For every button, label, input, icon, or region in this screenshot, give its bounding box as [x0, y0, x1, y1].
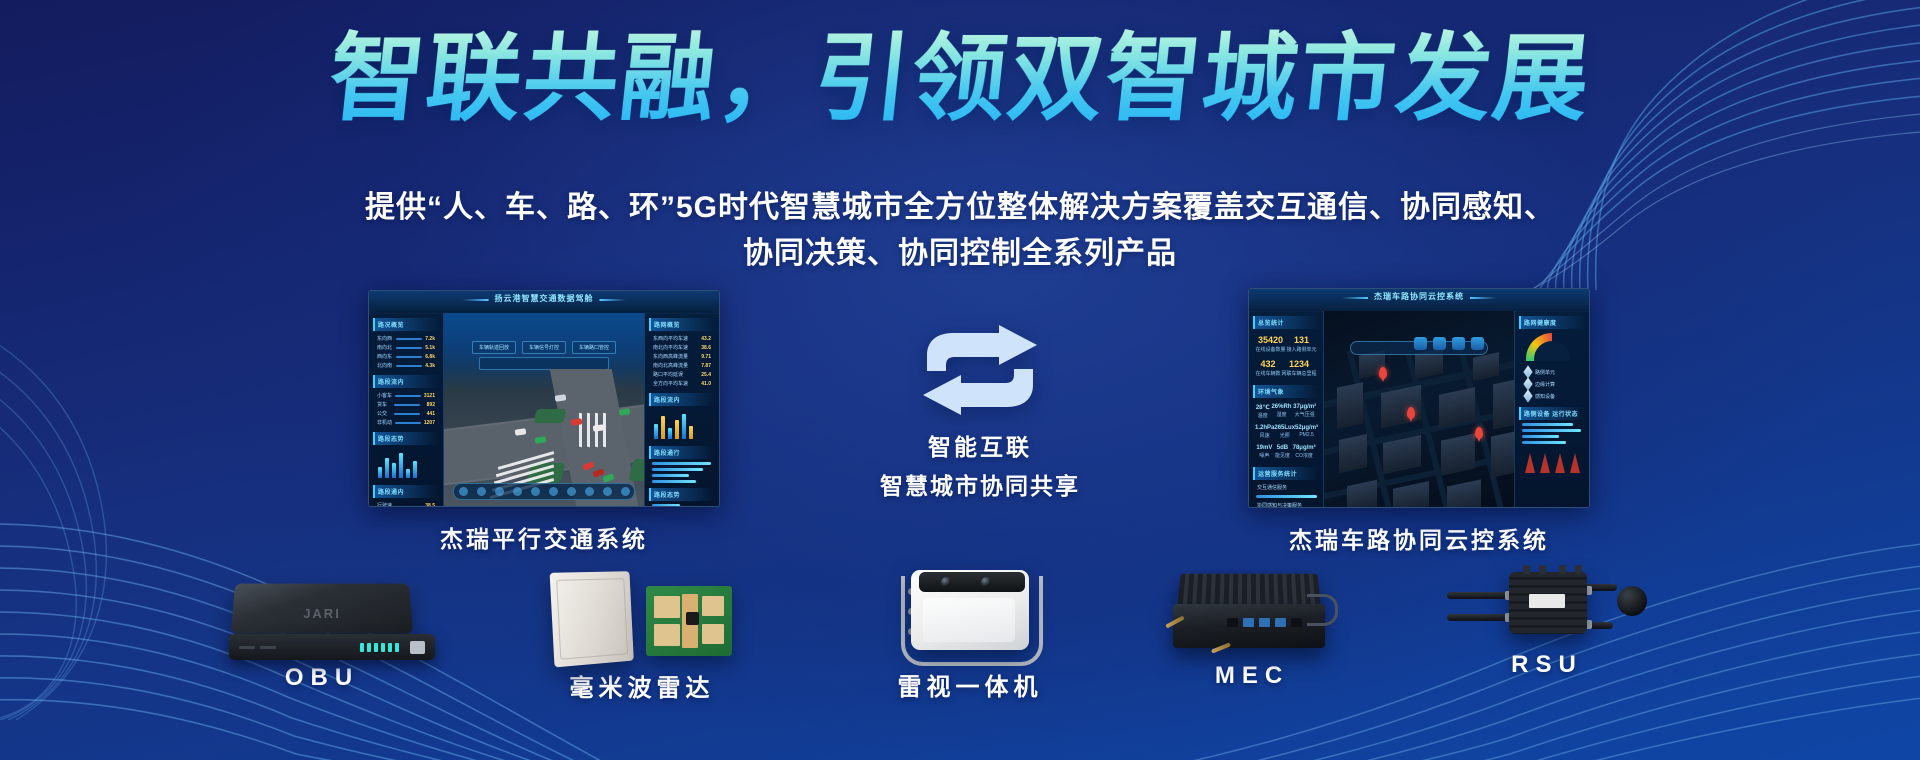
kpi-label: 在线设备数量	[1255, 346, 1285, 353]
city-3d-map	[1323, 311, 1515, 507]
page-title: 智联共融，引领双智城市发展	[0, 28, 1920, 131]
layer-icon-device[interactable]	[1452, 337, 1465, 350]
cloud-left-sidebar: 总览统计 35420在线设备数量 131接入路侧单元 432在线车辆数 1234…	[1249, 311, 1324, 507]
obu-led	[388, 643, 392, 652]
metric-label: 行驶速	[377, 502, 392, 507]
camera-lens	[981, 577, 991, 587]
bar	[399, 453, 403, 478]
health-gauge	[1526, 333, 1578, 361]
env-value: 37μg/m³	[1293, 404, 1316, 410]
env-label: 光照	[1274, 432, 1295, 439]
legend-label: 感知设备	[1535, 393, 1555, 400]
metric-value: 43.2	[701, 336, 711, 342]
metric-row: 东西向平均车速43.2	[649, 334, 715, 343]
env-item: 28℃温度	[1256, 404, 1270, 419]
map-pin[interactable]	[1379, 367, 1387, 379]
progress-bar	[652, 480, 696, 483]
env-row: 1.2hPa风速 265Lux光照 52μg/m³PM2.5	[1253, 422, 1319, 442]
product-mmwave-radar[interactable]: 毫米波雷达	[542, 572, 742, 703]
grass-patch	[533, 409, 566, 423]
obu-led	[395, 643, 399, 652]
product-label-rsu: RSU	[1422, 651, 1672, 679]
bar	[668, 428, 672, 439]
mec-port-usb	[1275, 618, 1286, 627]
obu-brand-logo: JARI	[303, 606, 341, 621]
metric-row: 西向东6.8k	[373, 352, 439, 361]
layer-icon-cloud[interactable]	[1471, 337, 1484, 350]
bar	[378, 467, 382, 478]
mini-bar-chart	[373, 448, 439, 480]
city-block	[1447, 479, 1481, 507]
progress-bar	[652, 504, 680, 507]
mec-port-usb	[1243, 618, 1254, 627]
card-road-pass-right: 路段通行	[649, 446, 715, 483]
env-item: 52μg/m³PM2.5	[1295, 425, 1318, 439]
metric-row: 公交441	[373, 409, 439, 418]
exchange-block: 智能互联 智慧城市协同共享	[870, 325, 1090, 501]
kpi-item: 432在线车辆数	[1255, 359, 1280, 377]
card-title: 路段通行	[649, 446, 715, 459]
progress-bar	[652, 462, 711, 465]
card-title: 路段通内	[373, 485, 439, 498]
metric-row: 全方向平均车速41.0	[649, 379, 715, 388]
obu-led	[360, 643, 364, 652]
metric-value: 9.71	[701, 354, 711, 360]
metric-value: 6.8k	[425, 354, 435, 360]
card-title: 路侧设备 运行状态	[1519, 407, 1585, 420]
kpi-item: 131接入路侧单元	[1286, 335, 1316, 353]
dashboard-right-sidebar: 路网概览 东西向平均车速43.2 南北向平均车速38.6 东向西高峰流量9.71…	[644, 313, 719, 506]
rsu-top-nub	[1575, 565, 1582, 574]
kpi-label: 接入路侧单元	[1286, 346, 1316, 353]
env-label: 湿度	[1271, 411, 1291, 418]
legend-item: 边缘计算	[1519, 378, 1585, 390]
metric-value: 3121	[424, 393, 435, 399]
city-block	[1441, 433, 1475, 475]
metric-value: 7.2k	[425, 336, 435, 342]
dashboard-title-right: 杰瑞车路协同云控系统	[1374, 291, 1464, 302]
progress-bar	[652, 468, 703, 471]
city-block	[1491, 429, 1515, 477]
cube-icon	[1523, 389, 1532, 402]
card-title: 路况概览	[373, 318, 439, 331]
grouped-bar-chart	[649, 409, 715, 441]
env-value: 19mV	[1256, 445, 1272, 451]
city-block	[1383, 435, 1421, 474]
product-label-radar-vision: 雷视一体机	[870, 667, 1070, 702]
metric-row: 北向南4.3k	[373, 361, 439, 370]
metric-row: 南向北高峰流量7.87	[649, 361, 715, 370]
product-image-radar	[552, 572, 732, 668]
metric-label: 东向西高峰流量	[653, 353, 688, 360]
card-kpi: 总览统计 35420在线设备数量 131接入路侧单元 432在线车辆数 1234…	[1253, 316, 1319, 380]
metric-label: 小客车	[377, 392, 392, 399]
spike	[1555, 453, 1565, 473]
scene-filter-pills[interactable]: 车辆轨迹回放 车辆信号灯控 车辆路口管控	[475, 341, 612, 354]
promo-banner: 智联共融，引领双智城市发展 提供“人、车、路、环”5G时代智慧城市全方位整体解决…	[0, 0, 1920, 760]
obu-slot	[239, 646, 255, 649]
env-item: 265Lux光照	[1274, 425, 1295, 439]
camera-lens-bar	[919, 572, 1025, 592]
metric-label: 公交	[377, 410, 387, 417]
metric-row: 东向西7.2k	[373, 334, 439, 343]
card-environment: 环境气象 28℃温度 26%Rh湿度 37μg/m³大气压强 1.2hPa风速 …	[1253, 385, 1319, 462]
card-status-right: 路段态势	[649, 488, 715, 507]
metric-label: 南向北高峰流量	[653, 362, 688, 369]
metric-label: 全方向平均车速	[653, 380, 688, 387]
product-rsu[interactable]: RSU	[1422, 556, 1672, 679]
card-service-bars: 运营服务统计 交互通信服务 协同感知与决策服务 交通事件感知服务 路侧设备状态监…	[1253, 467, 1319, 508]
camera-illuminator-panel	[923, 598, 1015, 642]
env-label: 温度	[1256, 412, 1270, 419]
antenna-pad	[702, 624, 724, 644]
intersection-3d-scene: 车辆轨迹回放 车辆信号灯控 车辆路口管控	[443, 313, 645, 506]
city-block	[1339, 434, 1367, 473]
map-pin[interactable]	[1475, 427, 1483, 439]
toolbar-icon[interactable]	[531, 487, 540, 496]
exchange-line-2: 智慧城市协同共享	[870, 467, 1090, 501]
service-row: 交互通信服务	[1253, 483, 1319, 492]
metric-row: 南北向平均车速38.6	[649, 343, 715, 352]
env-label: CO浓度	[1293, 452, 1316, 459]
product-image-mec	[1165, 572, 1340, 662]
toolbar-icon[interactable]	[567, 487, 576, 496]
metric-bar	[394, 413, 420, 415]
product-image-obu: JARI	[227, 582, 417, 664]
kpi-item: 1234网联车辆总里程	[1281, 359, 1316, 377]
crosswalk-stripe	[587, 413, 590, 448]
toolbar-icon[interactable]	[477, 487, 486, 496]
panel-caption-right: 杰瑞车路协同云控系统	[1248, 521, 1590, 555]
env-value: 26%Rh	[1271, 404, 1291, 410]
metric-value: 1207	[424, 420, 435, 426]
mec-port-lan	[1291, 618, 1302, 627]
metric-label: 路口平均延误	[653, 371, 683, 378]
env-row: 19mV噪声 5dB能见度 78μg/m³CO浓度	[1253, 442, 1319, 462]
toolbar-icon[interactable]	[549, 487, 558, 496]
env-item: 19mV噪声	[1256, 445, 1272, 459]
kpi-label: 在线车辆数	[1255, 370, 1280, 377]
subtitle-line-1: 提供“人、车、路、环”5G时代智慧城市全方位整体解决方案覆盖交互通信、协同感知、	[365, 191, 1555, 224]
table-bar	[1522, 423, 1573, 426]
legend-label: 边缘计算	[1535, 381, 1555, 388]
obu-slot	[260, 646, 276, 649]
metric-label: 非机动	[377, 419, 392, 426]
mec-port-row	[1227, 618, 1302, 627]
city-block	[1473, 352, 1499, 381]
product-label-radar: 毫米波雷达	[542, 668, 742, 703]
service-label: 协同感知与决策服务	[1257, 502, 1302, 508]
metric-bar	[395, 422, 421, 424]
pill-1[interactable]: 车辆信号灯控	[522, 341, 566, 354]
mec-power-cable	[1307, 594, 1338, 626]
env-row: 28℃温度 26%Rh湿度 37μg/m³大气压强	[1253, 401, 1319, 422]
rsu-antenna-rod	[1447, 592, 1513, 599]
layer-icon-road[interactable]	[1433, 337, 1446, 350]
metric-row: 小客车3121	[373, 391, 439, 400]
city-block	[1493, 378, 1515, 430]
layer-icon-vehicle[interactable]	[1414, 337, 1427, 350]
metric-row: 非机动1207	[373, 418, 439, 427]
scene-toolbar[interactable]	[453, 483, 635, 500]
env-value: 78μg/m³	[1293, 445, 1316, 451]
env-value: 28℃	[1256, 404, 1270, 411]
env-item: 1.2hPa风速	[1255, 425, 1274, 439]
spike-chart	[1519, 449, 1585, 475]
obu-led	[374, 643, 378, 652]
service-bar	[1256, 495, 1317, 498]
env-item: 78μg/m³CO浓度	[1293, 445, 1316, 459]
antenna-pad	[654, 596, 680, 618]
metric-label: 东向西	[377, 335, 392, 342]
kpi-value: 1234	[1281, 359, 1316, 369]
metric-label: 货车	[377, 401, 387, 408]
card-gauge: 路网健康度	[1519, 316, 1585, 361]
antenna-pad	[702, 596, 724, 616]
spike	[1525, 453, 1535, 473]
metric-value: 5.1k	[425, 345, 435, 351]
card-title: 路段态势	[373, 432, 439, 445]
obu-ethernet-port	[410, 641, 425, 654]
rsu-antenna-rod	[1447, 614, 1513, 621]
map-pin[interactable]	[1407, 407, 1415, 419]
legend-item: 路侧单元	[1519, 366, 1585, 378]
progress-bar	[652, 474, 689, 477]
rsu-dome-antenna	[1617, 586, 1647, 616]
env-value: 52μg/m³	[1295, 425, 1318, 431]
spike	[1570, 453, 1580, 473]
env-label: 风速	[1255, 432, 1274, 439]
metric-bar	[395, 395, 421, 397]
rsu-nameplate	[1529, 594, 1565, 608]
kpi-row: 432在线车辆数 1234网联车辆总里程	[1253, 356, 1319, 380]
metric-value: 41.0	[701, 381, 711, 387]
toolbar-icon[interactable]	[585, 487, 594, 496]
pill-0[interactable]: 车辆轨迹回放	[472, 341, 516, 354]
bar	[385, 458, 389, 478]
kpi-item: 35420在线设备数量	[1255, 335, 1285, 353]
toolbar-icon[interactable]	[459, 487, 468, 496]
map-layer-icons[interactable]	[1414, 337, 1484, 350]
metric-label: 东西向平均车速	[653, 335, 688, 342]
card-title: 路网健康度	[1519, 316, 1585, 329]
metric-value: 441	[427, 411, 435, 417]
city-block	[1393, 481, 1429, 507]
table-bar	[1522, 435, 1559, 438]
subtitle-line-2: 协同决策、协同控制全系列产品	[0, 231, 1920, 277]
rsu-top-nub	[1559, 565, 1566, 574]
card-road-status: 路段态势	[373, 432, 439, 480]
antenna-pad	[654, 624, 680, 646]
obu-led	[381, 643, 385, 652]
card-title: 路段态势	[649, 488, 715, 501]
card-road-flow: 路段流内 小客车3121 货车892 公交441 非机动1207	[373, 375, 439, 427]
card-title: 路段流内	[373, 375, 439, 388]
metric-value: 38.6	[701, 345, 711, 351]
bidirectional-arrows-icon	[915, 325, 1045, 415]
legend-item: 感知设备	[1519, 390, 1585, 402]
env-value: 265Lux	[1274, 425, 1295, 431]
card-road-overview: 路况概览 东向西7.2k 南向北5.1k 西向东6.8k 北向南4.3k	[373, 318, 439, 370]
env-item: 37μg/m³大气压强	[1293, 404, 1316, 419]
product-obu[interactable]: JARI OBU	[222, 582, 422, 692]
product-image-rsu	[1447, 556, 1647, 651]
product-label-mec: MEC	[1152, 662, 1352, 690]
bar	[406, 469, 410, 478]
bar	[654, 424, 658, 439]
city-block	[1337, 382, 1363, 429]
screenshot-parallel-traffic: 扬云港智慧交通数据驾舱 车辆轨迹回放 车辆信号灯控 车辆路口管控	[368, 290, 720, 507]
bar	[682, 414, 686, 439]
metric-row: 行驶速38.5	[373, 501, 439, 507]
metric-label: 西向东	[377, 353, 392, 360]
rsu-top-nub	[1523, 565, 1530, 574]
metric-value: 892	[427, 402, 435, 408]
metric-row: 路口平均延误25.4	[649, 370, 715, 379]
metric-bar	[396, 365, 422, 367]
table-bar	[1522, 429, 1581, 432]
page-subtitle: 提供“人、车、路、环”5G时代智慧城市全方位整体解决方案覆盖交互通信、协同感知、…	[0, 185, 1920, 276]
product-mec[interactable]: MEC	[1152, 572, 1352, 690]
metric-bar	[394, 404, 420, 406]
metric-row: 东向西高峰流量9.71	[649, 352, 715, 361]
metric-value: 38.5	[425, 503, 435, 508]
toolbar-icon[interactable]	[621, 487, 630, 496]
dashboard-title-left: 扬云港智慧交通数据驾舱	[495, 293, 594, 304]
service-row: 协同感知与决策服务	[1253, 501, 1319, 508]
toolbar-icon[interactable]	[495, 487, 504, 496]
metric-row: 货车892	[373, 400, 439, 409]
kpi-value: 432	[1255, 359, 1280, 369]
metric-row: 南向北5.1k	[373, 343, 439, 352]
product-image-camera	[895, 562, 1045, 667]
product-radar-vision[interactable]: 雷视一体机	[870, 562, 1070, 702]
card-title: 路网概览	[649, 318, 715, 331]
metric-bar	[396, 338, 422, 340]
metric-label: 北向南	[377, 362, 392, 369]
env-value: 5dB	[1275, 445, 1290, 451]
obu-front-panel	[229, 634, 435, 660]
mec-port-usb	[1259, 618, 1270, 627]
toolbar-icon[interactable]	[603, 487, 612, 496]
rsu-chassis	[1509, 572, 1587, 634]
metric-bar	[396, 356, 422, 358]
bar	[689, 426, 693, 439]
panel-caption-left: 杰瑞平行交通系统	[368, 520, 720, 554]
screenshot-cloud-control: 杰瑞车路协同云控系统	[1248, 288, 1590, 508]
card-road-pass: 路段通内 行驶速38.5 排队长52.1 延误率12.6 饱和度0.78 通行量…	[373, 485, 439, 507]
radar-pcb-board	[646, 586, 732, 656]
radar-chip	[686, 612, 699, 625]
toolbar-icon[interactable]	[513, 487, 522, 496]
kpi-value: 35420	[1255, 335, 1285, 345]
metric-value: 7.87	[701, 363, 711, 369]
bar	[392, 463, 396, 478]
card-title: 环境气象	[1253, 385, 1319, 398]
env-item: 5dB能见度	[1275, 445, 1290, 459]
card-title: 路段流内	[649, 393, 715, 406]
table-bar	[1522, 441, 1566, 444]
metric-label: 南北向平均车速	[653, 344, 688, 351]
service-label: 交互通信服务	[1257, 484, 1287, 491]
city-block	[1347, 480, 1377, 507]
rsu-top-nub	[1539, 565, 1546, 574]
kpi-label: 网联车辆总里程	[1281, 370, 1316, 377]
card-network-overview: 路网概览 东西向平均车速43.2 南北向平均车速38.6 东向西高峰流量9.71…	[649, 318, 715, 388]
card-title: 总览统计	[1253, 316, 1319, 329]
panel-parallel-traffic[interactable]: 扬云港智慧交通数据驾舱 车辆轨迹回放 车辆信号灯控 车辆路口管控	[368, 290, 720, 554]
card-flow-chart: 路段流内	[649, 393, 715, 441]
card-legend: 路侧单元 边缘计算 感知设备	[1519, 366, 1585, 402]
env-label: 噪声	[1256, 452, 1272, 459]
env-value: 1.2hPa	[1255, 425, 1274, 431]
metric-bar	[396, 347, 422, 349]
mec-port-hdmi	[1227, 618, 1238, 627]
env-item: 26%Rh湿度	[1271, 404, 1291, 419]
bar	[413, 461, 417, 478]
bar	[661, 416, 665, 439]
obu-led	[367, 643, 371, 652]
cloud-right-sidebar: 路网健康度 路侧单元 边缘计算 感知设备 路侧设备 运行状态	[1514, 311, 1589, 507]
spike	[1540, 453, 1550, 473]
card-table: 路侧设备 运行状态	[1519, 407, 1585, 444]
bar	[675, 420, 679, 439]
obu-led-strip	[360, 643, 399, 652]
product-label-obu: OBU	[222, 664, 422, 692]
card-title: 运营服务统计	[1253, 467, 1319, 480]
env-label: 大气压强	[1293, 411, 1316, 418]
env-label: PM2.5	[1295, 432, 1318, 438]
dashboard-left-sidebar: 路况概览 东向西7.2k 南向北5.1k 西向东6.8k 北向南4.3k 路段流…	[369, 313, 444, 506]
env-label: 能见度	[1275, 452, 1290, 459]
kpi-value: 131	[1286, 335, 1316, 345]
exchange-line-1: 智能互联	[870, 428, 1090, 462]
camera-lens	[941, 577, 951, 587]
city-block	[1381, 385, 1421, 429]
radar-enclosure	[550, 571, 634, 667]
mec-chassis	[1173, 604, 1325, 648]
legend-label: 路侧单元	[1535, 369, 1555, 376]
metric-value: 25.4	[701, 372, 711, 378]
metric-value: 4.3k	[425, 363, 435, 369]
panel-cloud-control[interactable]: 杰瑞车路协同云控系统	[1248, 288, 1590, 555]
pill-2[interactable]: 车辆路口管控	[572, 341, 616, 354]
card-spikes	[1519, 449, 1585, 475]
kpi-row: 35420在线设备数量 131接入路侧单元	[1253, 332, 1319, 356]
metric-label: 南向北	[377, 344, 392, 351]
